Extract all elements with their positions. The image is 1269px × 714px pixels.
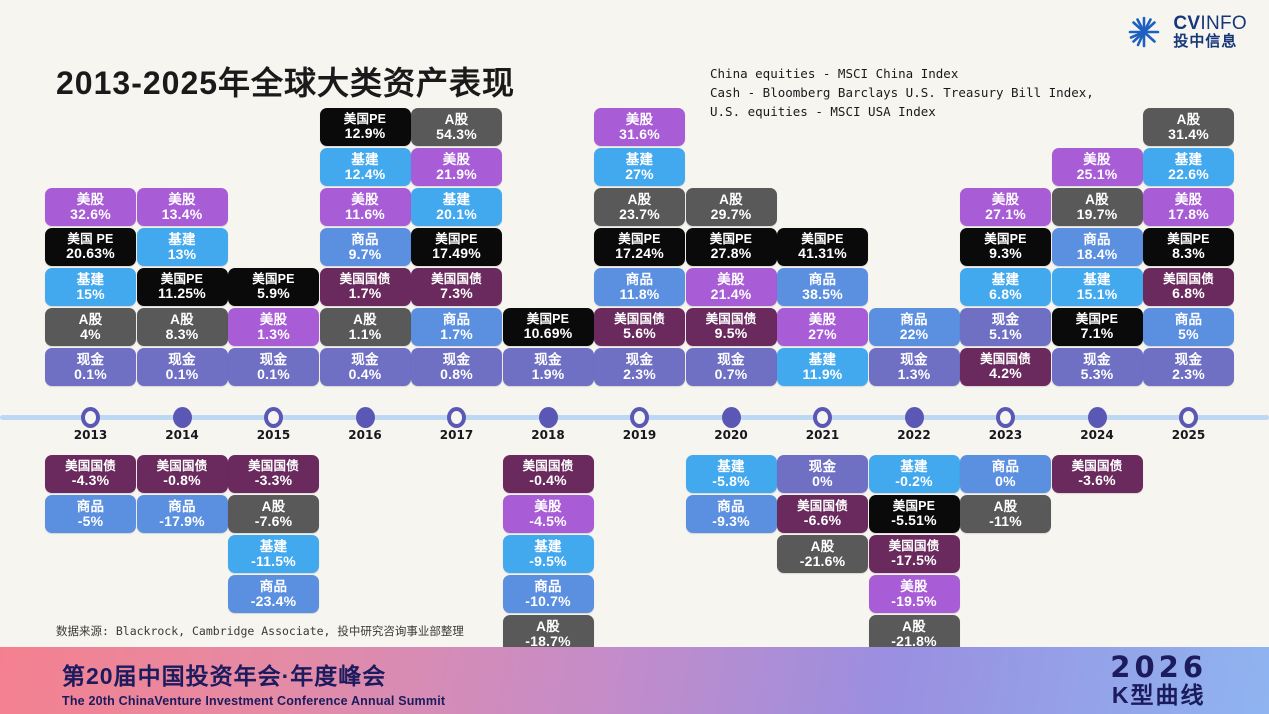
asset-chip[interactable]: 基建-0.2% (869, 455, 960, 493)
timeline-dot-2022[interactable] (905, 407, 924, 428)
asset-chip-value: -6.6% (804, 513, 842, 527)
asset-chip-label: 商品 (351, 233, 378, 247)
asset-chip[interactable]: 美股32.6% (45, 188, 136, 226)
logo-en: CVINFO (1173, 14, 1247, 34)
year-column-positive: 美国PE41.31%商品38.5%美股27%基建11.9% (777, 60, 868, 388)
year-column-positive: 美股25.1%A股19.7%商品18.4%基建15.1%美国PE7.1%现金5.… (1052, 60, 1143, 388)
asset-chip[interactable]: 现金5.1% (960, 308, 1051, 346)
asset-chip-label: 商品 (534, 580, 561, 594)
asset-chip-label: A股 (79, 313, 103, 327)
asset-chip[interactable]: 美国PE17.49% (411, 228, 502, 266)
asset-chip-value: -18.7% (525, 634, 571, 648)
asset-chip[interactable]: 商品-9.3% (686, 495, 777, 533)
asset-chip[interactable]: 基建20.1% (411, 188, 502, 226)
asset-chip-value: 31.4% (1168, 127, 1209, 141)
asset-chip-value: 8.3% (166, 327, 199, 341)
timeline-year-label: 2019 (594, 428, 685, 442)
asset-chip-label: 商品 (809, 273, 836, 287)
asset-chip-label: 商品 (77, 500, 104, 514)
asset-chip[interactable]: 美国国债9.5% (686, 308, 777, 346)
asset-chip[interactable]: 现金0% (777, 455, 868, 493)
asset-chip[interactable]: A股-11% (960, 495, 1051, 533)
footer-conference: 第20届中国投资年会·年度峰会 The 20th ChinaVenture In… (62, 657, 445, 708)
asset-chip-value: 7.1% (1081, 326, 1114, 340)
asset-chip[interactable]: 现金2.3% (594, 348, 685, 386)
asset-chip[interactable]: 现金5.3% (1052, 348, 1143, 386)
asset-chip-value: -21.6% (800, 554, 846, 568)
timeline-year-label: 2022 (869, 428, 960, 442)
footer-year: 2026 (1110, 653, 1207, 682)
asset-chip[interactable]: 美国国债1.7% (320, 268, 411, 306)
asset-chip[interactable]: 商品5% (1143, 308, 1234, 346)
asset-chip-value: -19.5% (891, 594, 937, 608)
asset-chip-value: -9.3% (712, 514, 750, 528)
footer-title-cn: 第20届中国投资年会·年度峰会 (62, 657, 445, 691)
asset-chip-value: 12.4% (345, 167, 386, 181)
asset-chip[interactable]: 商品0% (960, 455, 1051, 493)
timeline-dot-2014[interactable] (173, 407, 192, 428)
asset-chip[interactable]: 现金0.1% (137, 348, 228, 386)
asset-chip-label: 美股 (717, 273, 744, 287)
asset-chip-value: 31.6% (619, 127, 660, 141)
asset-chip-value: 5% (1178, 327, 1199, 341)
asset-chip[interactable]: 商品9.7% (320, 228, 411, 266)
asset-chip[interactable]: 基建22.6% (1143, 148, 1234, 186)
asset-chip-label: 美股 (900, 580, 927, 594)
asset-chip-value: -17.5% (891, 553, 937, 567)
asset-chip-label: A股 (262, 500, 286, 514)
asset-chip[interactable]: 现金0.7% (686, 348, 777, 386)
timeline-dot-2013[interactable] (81, 407, 100, 428)
asset-chip-label: 商品 (626, 273, 653, 287)
asset-chip-value: 54.3% (436, 127, 477, 141)
asset-chip-value: 19.7% (1077, 207, 1118, 221)
asset-chip-label: A股 (811, 540, 835, 554)
asset-chip[interactable]: 商品22% (869, 308, 960, 346)
asset-chip-label: 美股 (351, 193, 378, 207)
asset-chip-label: 美股 (992, 193, 1019, 207)
asset-chip-label: 基建 (168, 233, 195, 247)
asset-chip[interactable]: 基建15.1% (1052, 268, 1143, 306)
infographic-stage: 2013-2025年全球大类资产表现 China equities - MSCI… (0, 0, 1269, 714)
asset-matrix: 美股32.6%美国 PE20.63%基建15%A股4%现金0.1%美国国债-4.… (0, 0, 1269, 714)
asset-chip[interactable]: 美国国债-4.3% (45, 455, 136, 493)
asset-chip-label: A股 (536, 620, 560, 634)
asset-chip-value: 13% (168, 247, 197, 261)
asset-chip-label: 商品 (717, 500, 744, 514)
source-note: 数据来源: Blackrock, Cambridge Associate, 投中… (56, 623, 464, 639)
asset-chip-value: 27.8% (711, 246, 752, 260)
asset-chip-label: A股 (1177, 113, 1201, 127)
asset-chip[interactable]: 美股27.1% (960, 188, 1051, 226)
asset-chip-value: 38.5% (802, 287, 843, 301)
asset-chip-value: 15% (76, 287, 105, 301)
timeline-year-label: 2018 (503, 428, 594, 442)
asset-chip-value: 9.3% (989, 246, 1022, 260)
asset-chip[interactable]: A股8.3% (137, 308, 228, 346)
asset-chip-value: 0% (812, 474, 833, 488)
asset-chip[interactable]: 基建-9.5% (503, 535, 594, 573)
asset-chip[interactable]: 美股1.3% (228, 308, 319, 346)
year-column-negative: 美国国债-0.8%商品-17.9% (137, 455, 228, 535)
asset-chip-label: 现金 (1175, 353, 1202, 367)
asset-chip[interactable]: 现金1.3% (869, 348, 960, 386)
asset-chip-value: 1.7% (349, 286, 382, 300)
asset-chip-value: 1.1% (349, 327, 382, 341)
timeline-dot-2019[interactable] (630, 407, 649, 428)
asset-chip-label: 商品 (168, 500, 195, 514)
timeline-dot-2015[interactable] (264, 407, 283, 428)
asset-chip-label: 美股 (77, 193, 104, 207)
asset-chip[interactable]: 美国PE9.3% (960, 228, 1051, 266)
asset-chip[interactable]: 美国PE5.9% (228, 268, 319, 306)
asset-chip-value: 0.8% (440, 367, 473, 381)
year-column-positive: 美股13.4%基建13%美国PE11.25%A股8.3%现金0.1% (137, 60, 228, 388)
asset-chip-label: A股 (719, 193, 743, 207)
year-column-positive: 美股32.6%美国 PE20.63%基建15%A股4%现金0.1% (45, 60, 136, 388)
asset-chip[interactable]: 美国国债-6.6% (777, 495, 868, 533)
asset-chip-value: 1.9% (532, 367, 565, 381)
asset-chip-label: A股 (445, 113, 469, 127)
asset-chip-label: 基建 (809, 353, 836, 367)
asset-chip-label: 基建 (626, 153, 653, 167)
asset-chip-label: 现金 (77, 353, 104, 367)
asset-chip-label: 现金 (626, 353, 653, 367)
asset-chip-value: -0.2% (895, 474, 933, 488)
asset-chip-value: 4.2% (989, 366, 1022, 380)
asset-chip[interactable]: 现金1.9% (503, 348, 594, 386)
asset-chip[interactable]: 美股11.6% (320, 188, 411, 226)
asset-chip-value: 5.9% (257, 286, 290, 300)
asset-chip[interactable]: 美国PE12.9% (320, 108, 411, 146)
asset-chip[interactable]: A股23.7% (594, 188, 685, 226)
asset-chip[interactable]: A股4% (45, 308, 136, 346)
asset-chip[interactable]: 基建13% (137, 228, 228, 266)
asset-chip-label: A股 (353, 313, 377, 327)
asset-chip-value: 17.8% (1168, 207, 1209, 221)
asset-chip[interactable]: 现金0.1% (228, 348, 319, 386)
asset-chip-value: 41.31% (798, 246, 847, 260)
timeline-year-label: 2020 (686, 428, 777, 442)
timeline-year-label: 2017 (411, 428, 502, 442)
timeline-year-label: 2024 (1052, 428, 1143, 442)
asset-chip-value: 22% (900, 327, 929, 341)
asset-chip[interactable]: 美股21.4% (686, 268, 777, 306)
asset-chip-value: 0.1% (74, 367, 107, 381)
year-column-positive: A股54.3%美股21.9%基建20.1%美国PE17.49%美国国债7.3%商… (411, 60, 502, 388)
asset-chip-value: -5% (78, 514, 104, 528)
asset-chip-value: 4% (80, 327, 101, 341)
asset-chip-value: 11.6% (345, 207, 385, 221)
asset-chip-label: 美股 (260, 313, 287, 327)
asset-chip-label: 商品 (900, 313, 927, 327)
asset-chip-value: -5.51% (891, 513, 937, 527)
asset-chip[interactable]: 美股13.4% (137, 188, 228, 226)
asset-chip[interactable]: 美国国债-3.6% (1052, 455, 1143, 493)
asset-chip[interactable]: A股-21.6% (777, 535, 868, 573)
year-column-negative: 美国国债-4.3%商品-5% (45, 455, 136, 535)
asset-chip[interactable]: 美股31.6% (594, 108, 685, 146)
asset-chip-label: A股 (1085, 193, 1109, 207)
asset-chip[interactable]: 美国PE41.31% (777, 228, 868, 266)
asset-chip[interactable]: 美国国债5.6% (594, 308, 685, 346)
asset-chip-value: 2.3% (1172, 367, 1205, 381)
year-column-positive: 美国PE12.9%基建12.4%美股11.6%商品9.7%美国国债1.7%A股1… (320, 60, 411, 388)
asset-chip-value: 25.1% (1077, 167, 1118, 181)
asset-chip-value: 11.8% (620, 287, 660, 301)
asset-chip-label: 美股 (1175, 193, 1202, 207)
asset-chip-value: -4.3% (72, 473, 110, 487)
asset-chip-value: 21.9% (436, 167, 477, 181)
asset-chip[interactable]: 美股27% (777, 308, 868, 346)
logo-info: INFO (1200, 13, 1247, 34)
asset-chip-label: 现金 (992, 313, 1019, 327)
asset-chip-label: 基建 (900, 460, 927, 474)
asset-chip-label: 美股 (1083, 153, 1110, 167)
timeline-year-label: 2015 (228, 428, 319, 442)
asset-chip-value: 1.7% (440, 327, 473, 341)
asset-chip[interactable]: 美国PE10.69% (503, 308, 594, 346)
timeline-dot-2017[interactable] (447, 407, 466, 428)
asset-chip-label: 现金 (809, 460, 836, 474)
asset-chip[interactable]: 基建12.4% (320, 148, 411, 186)
asset-chip[interactable]: 美股-4.5% (503, 495, 594, 533)
cvinfo-logo: CVINFO 投中信息 (1124, 12, 1247, 52)
asset-chip-value: 5.1% (989, 327, 1022, 341)
asset-chip-value: 17.49% (432, 246, 481, 260)
asset-chip[interactable]: 美国PE7.1% (1052, 308, 1143, 346)
asset-chip-label: 基建 (992, 273, 1019, 287)
asset-chip[interactable]: 美股21.9% (411, 148, 502, 186)
asset-chip-label: 基建 (77, 273, 104, 287)
asset-chip[interactable]: 美股25.1% (1052, 148, 1143, 186)
asset-chip-value: -11.5% (251, 554, 296, 568)
timeline-dot-2020[interactable] (722, 407, 741, 428)
asset-chip[interactable]: 现金0.4% (320, 348, 411, 386)
asset-chip-value: 8.3% (1172, 246, 1205, 260)
asset-chip-label: 基建 (717, 460, 744, 474)
timeline-year-label: 2023 (960, 428, 1051, 442)
footer-theme: 2026 K型曲线 (1110, 653, 1207, 708)
asset-chip[interactable]: 美国PE27.8% (686, 228, 777, 266)
asset-chip[interactable]: 现金2.3% (1143, 348, 1234, 386)
asset-chip-value: -10.7% (525, 594, 571, 608)
asset-chip-value: -0.8% (163, 473, 201, 487)
asset-chip[interactable]: 现金0.1% (45, 348, 136, 386)
asset-chip-label: 现金 (168, 353, 195, 367)
asset-chip[interactable]: 美国国债4.2% (960, 348, 1051, 386)
asset-chip-value: 1.3% (898, 367, 931, 381)
timeline-dot-2018[interactable] (539, 407, 558, 428)
asset-chip[interactable]: 商品-10.7% (503, 575, 594, 613)
asset-chip-value: 15.1% (1077, 287, 1118, 301)
asset-chip-label: 基建 (1083, 273, 1110, 287)
asset-chip[interactable]: 基建-11.5% (228, 535, 319, 573)
asset-chip-value: 22.6% (1168, 167, 1209, 181)
asset-chip[interactable]: 美国国债7.3% (411, 268, 502, 306)
asset-chip[interactable]: 商品11.8% (594, 268, 685, 306)
footer-slogan: K型曲线 (1110, 683, 1207, 708)
year-column-negative: 商品0%A股-11% (960, 455, 1051, 535)
asset-chip[interactable]: 美国 PE20.63% (45, 228, 136, 266)
logo-cv: CV (1173, 13, 1200, 34)
asset-chip-value: 9.5% (715, 326, 748, 340)
asset-chip-label: 美股 (534, 500, 561, 514)
asset-chip-label: 基建 (443, 193, 470, 207)
timeline-year-label: 2025 (1143, 428, 1234, 442)
asset-chip-label: A股 (902, 620, 926, 634)
timeline-dot-2016[interactable] (356, 407, 375, 428)
year-column-negative: 美国国债-3.6% (1052, 455, 1143, 495)
asset-chip-label: 基建 (1175, 153, 1202, 167)
asset-chip[interactable]: 美国国债-0.8% (137, 455, 228, 493)
footer-bar: 第20届中国投资年会·年度峰会 The 20th ChinaVenture In… (0, 647, 1269, 714)
asset-chip-value: 20.63% (66, 246, 115, 260)
asset-chip-label: 美股 (443, 153, 470, 167)
asset-chip-value: 0% (995, 474, 1016, 488)
asset-chip[interactable]: 商品-5% (45, 495, 136, 533)
asset-chip-value: 11.25% (158, 286, 206, 300)
asset-chip-value: 0.1% (166, 367, 199, 381)
asset-chip[interactable]: 商品38.5% (777, 268, 868, 306)
asset-chip-value: -21.8% (891, 634, 937, 648)
asset-chip-value: 11.9% (803, 367, 843, 381)
timeline-dot-2024[interactable] (1088, 407, 1107, 428)
asset-chip[interactable]: 商品-23.4% (228, 575, 319, 613)
timeline-dot-2025[interactable] (1179, 407, 1198, 428)
asset-chip-value: 0.4% (349, 367, 382, 381)
timeline-year-label: 2014 (137, 428, 228, 442)
asset-chip-value: 6.8% (989, 287, 1022, 301)
asset-chip[interactable]: A股54.3% (411, 108, 502, 146)
asset-chip-value: 27% (808, 327, 837, 341)
asset-chip-value: 18.4% (1077, 247, 1118, 261)
asset-chip-value: 17.24% (615, 246, 664, 260)
year-column-positive: 美股27.1%美国PE9.3%基建6.8%现金5.1%美国国债4.2% (960, 60, 1051, 388)
year-column-negative: 基建-5.8%商品-9.3% (686, 455, 777, 535)
timeline-dot-2021[interactable] (813, 407, 832, 428)
asset-chip-value: 27.1% (985, 207, 1026, 221)
asset-chip[interactable]: A股19.7% (1052, 188, 1143, 226)
asset-chip[interactable]: 商品18.4% (1052, 228, 1143, 266)
asset-chip[interactable]: 美国PE17.24% (594, 228, 685, 266)
timeline-year-label: 2021 (777, 428, 868, 442)
asset-chip-value: 9.7% (349, 247, 382, 261)
asset-chip[interactable]: 商品1.7% (411, 308, 502, 346)
asset-chip-label: 美股 (626, 113, 653, 127)
asset-chip-value: 1.3% (257, 327, 290, 341)
asset-chip[interactable]: 美国PE8.3% (1143, 228, 1234, 266)
asset-chip-label: 现金 (717, 353, 744, 367)
asset-chip-label: 基建 (534, 540, 561, 554)
asset-chip-value: 5.6% (623, 326, 656, 340)
timeline-year-label: 2016 (320, 428, 411, 442)
asset-chip-value: -17.9% (159, 514, 205, 528)
asset-chip-value: 2.3% (623, 367, 656, 381)
year-column-positive: A股31.4%基建22.6%美股17.8%美国PE8.3%美国国债6.8%商品5… (1143, 60, 1234, 388)
asset-chip[interactable]: 基建11.9% (777, 348, 868, 386)
asset-chip-value: -5.8% (712, 474, 750, 488)
asset-chip[interactable]: 美股17.8% (1143, 188, 1234, 226)
asset-chip[interactable]: 现金0.8% (411, 348, 502, 386)
asset-chip-label: 商品 (260, 580, 287, 594)
asset-chip-value: 0.1% (257, 367, 290, 381)
asset-chip[interactable]: 基建27% (594, 148, 685, 186)
asset-chip-value: 7.3% (440, 286, 473, 300)
asset-chip-label: 现金 (351, 353, 378, 367)
year-column-positive: 美股31.6%基建27%A股23.7%美国PE17.24%商品11.8%美国国债… (594, 60, 685, 388)
asset-chip-value: 6.8% (1172, 286, 1205, 300)
asset-chip[interactable]: 基建6.8% (960, 268, 1051, 306)
year-column-positive: 商品22%现金1.3% (869, 60, 960, 388)
asset-chip-value: -11% (989, 514, 1022, 528)
asset-chip[interactable]: 美国国债-3.3% (228, 455, 319, 493)
asset-chip-value: 29.7% (711, 207, 752, 221)
year-column-positive: 美国PE10.69%现金1.9% (503, 60, 594, 388)
logo-wordmark: CVINFO 投中信息 (1173, 14, 1247, 50)
asset-chip-label: 美股 (168, 193, 195, 207)
asset-chip-value: 23.7% (619, 207, 660, 221)
asset-chip-label: 商品 (992, 460, 1019, 474)
asset-chip-label: 商品 (1083, 233, 1110, 247)
asset-chip-label: 现金 (1083, 353, 1110, 367)
asset-chip-value: 5.3% (1081, 367, 1114, 381)
asset-chip[interactable]: 基建15% (45, 268, 136, 306)
asset-chip-label: 现金 (900, 353, 927, 367)
asset-chip-value: -7.6% (255, 514, 293, 528)
asset-chip-label: A股 (994, 500, 1018, 514)
asset-chip[interactable]: 美国PE-5.51% (869, 495, 960, 533)
asset-chip[interactable]: A股1.1% (320, 308, 411, 346)
asset-chip-value: 32.6% (70, 207, 111, 221)
asset-chip[interactable]: A股29.7% (686, 188, 777, 226)
asset-chip-label: 商品 (1175, 313, 1202, 327)
asset-chip[interactable]: 美国PE11.25% (137, 268, 228, 306)
timeline-dot-2023[interactable] (996, 407, 1015, 428)
cvinfo-burst-icon (1124, 12, 1164, 52)
year-column-negative: 美国国债-3.3%A股-7.6%基建-11.5%商品-23.4% (228, 455, 319, 615)
asset-chip-label: A股 (170, 313, 194, 327)
asset-chip-label: 基建 (260, 540, 287, 554)
asset-chip-value: 12.9% (345, 126, 386, 140)
asset-chip-value: -23.4% (251, 594, 297, 608)
asset-chip-label: 基建 (351, 153, 378, 167)
asset-chip-value: -3.6% (1078, 473, 1116, 487)
asset-chip[interactable]: 美国国债-17.5% (869, 535, 960, 573)
year-column-positive: 美国PE5.9%美股1.3%现金0.1% (228, 60, 319, 388)
asset-chip[interactable]: A股-7.6% (228, 495, 319, 533)
asset-chip[interactable]: 基建-5.8% (686, 455, 777, 493)
year-column-negative: 现金0%美国国债-6.6%A股-21.6% (777, 455, 868, 575)
asset-chip-label: 现金 (260, 353, 287, 367)
asset-chip-value: 0.7% (715, 367, 748, 381)
asset-chip-label: 现金 (534, 353, 561, 367)
year-column-negative: 基建-0.2%美国PE-5.51%美国国债-17.5%美股-19.5%A股-21… (869, 455, 960, 655)
timeline-year-label: 2013 (45, 428, 136, 442)
asset-chip-value: -3.3% (255, 473, 293, 487)
asset-chip[interactable]: 美国国债6.8% (1143, 268, 1234, 306)
asset-chip-value: -9.5% (529, 554, 567, 568)
asset-chip[interactable]: 美国国债-0.4% (503, 455, 594, 493)
asset-chip-label: 商品 (443, 313, 470, 327)
logo-cn: 投中信息 (1173, 34, 1247, 50)
asset-chip-label: 现金 (443, 353, 470, 367)
asset-chip[interactable]: 美股-19.5% (869, 575, 960, 613)
asset-chip[interactable]: 商品-17.9% (137, 495, 228, 533)
asset-chip-value: 13.4% (162, 207, 203, 221)
asset-chip[interactable]: A股31.4% (1143, 108, 1234, 146)
asset-chip-value: 27% (625, 167, 654, 181)
